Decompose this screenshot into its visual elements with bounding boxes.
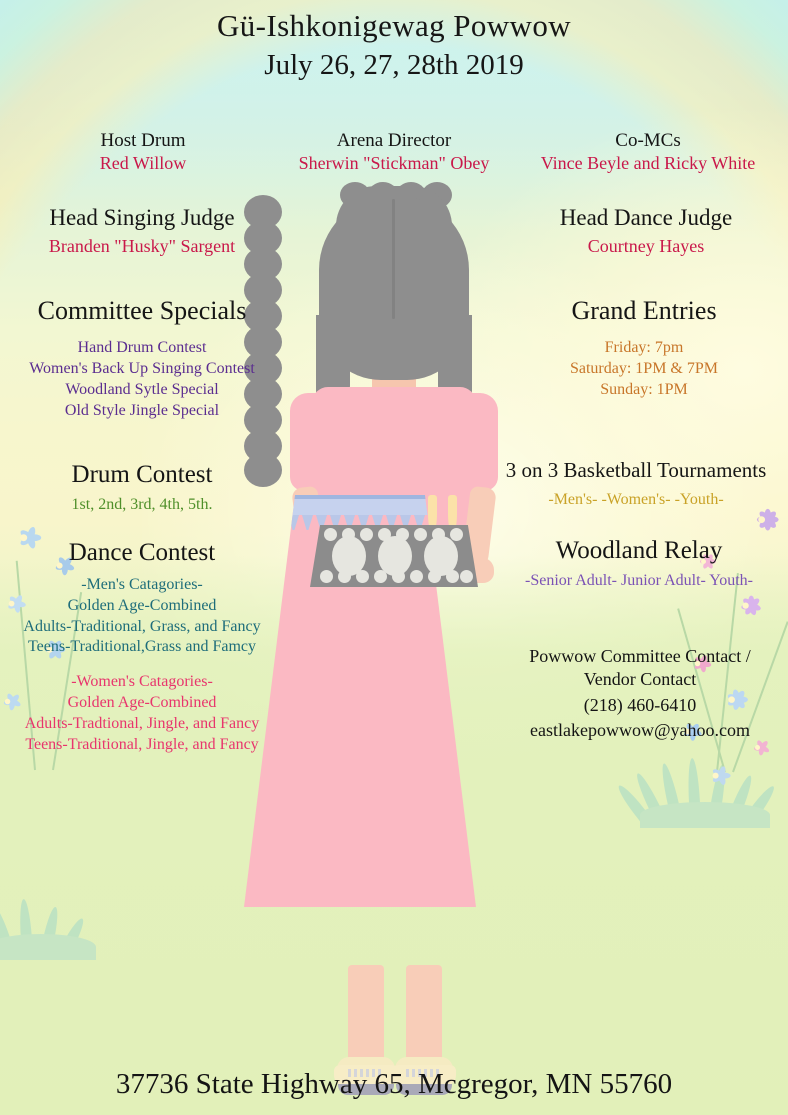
drum-contest-block: Drum Contest 1st, 2nd, 3rd, 4th, 5th. — [0, 460, 284, 516]
venue-address: 37736 State Highway 65, Mcgregor, MN 557… — [0, 1068, 788, 1101]
committee-special-item: Old Style Jingle Special — [0, 401, 284, 422]
drum-contest-places: 1st, 2nd, 3rd, 4th, 5th. — [0, 495, 284, 516]
concho-belt — [310, 525, 478, 587]
grand-entries-block: Grand Entries Friday: 7pm Saturday: 1PM … — [508, 296, 780, 401]
basketball-divisions: -Men's- -Women's- -Youth- — [484, 490, 788, 511]
womens-category: Golden Age-Combined — [0, 693, 284, 714]
grass-tuft-left — [0, 900, 96, 954]
mens-category: Teens-Traditional,Grass and Famcy — [0, 637, 284, 658]
page-title: Gü-Ishkonigewag Powwow — [0, 8, 788, 44]
womens-category: Teens-Traditional, Jingle, and Fancy — [0, 735, 284, 756]
contact-block: Powwow Committee Contact / Vendor Contac… — [492, 645, 788, 743]
womens-category: -Women's Catagories- — [0, 672, 284, 693]
grand-entry-item: Sunday: 1PM — [508, 380, 780, 401]
basketball-block: 3 on 3 Basketball Tournaments -Men's- -W… — [484, 458, 788, 511]
mens-category: -Men's Catagories- — [0, 575, 284, 596]
grand-entries-heading: Grand Entries — [508, 296, 780, 326]
committee-specials-block: Committee Specials Hand Drum Contest Wom… — [0, 296, 284, 421]
event-dates: July 26, 27, 28th 2019 — [0, 49, 788, 82]
dance-contest-block: Dance Contest -Men's Catagories- Golden … — [0, 538, 284, 755]
arena-director-heading: Arena Director — [260, 130, 528, 152]
woodland-relay-block: Woodland Relay -Senior Adult- Junior Adu… — [490, 536, 788, 592]
contact-line-2: Vendor Contact — [492, 668, 788, 691]
head-singing-judge-heading: Head Singing Judge — [8, 205, 276, 232]
grand-entry-item: Friday: 7pm — [508, 338, 780, 359]
contact-email[interactable]: eastlakepowwow@yahoo.com — [492, 719, 788, 742]
basketball-heading: 3 on 3 Basketball Tournaments — [484, 458, 788, 482]
co-mcs-names: Vince Beyle and Ricky White — [520, 152, 776, 175]
drum-contest-heading: Drum Contest — [0, 460, 284, 489]
woodland-relay-heading: Woodland Relay — [490, 536, 788, 565]
head-dance-judge-heading: Head Dance Judge — [512, 205, 780, 232]
dance-contest-heading: Dance Contest — [0, 538, 284, 567]
title-block: Gü-Ishkonigewag Powwow July 26, 27, 28th… — [0, 8, 788, 82]
arena-director-block: Arena Director Sherwin "Stickman" Obey — [260, 130, 528, 175]
host-drum-block: Host Drum Red Willow — [18, 130, 268, 175]
co-mcs-block: Co-MCs Vince Beyle and Ricky White — [520, 130, 776, 175]
committee-special-item: Hand Drum Contest — [0, 338, 284, 359]
powwow-poster: Gü-Ishkonigewag Powwow July 26, 27, 28th… — [0, 0, 788, 1115]
mens-category: Adults-Traditional, Grass, and Fancy — [0, 617, 284, 638]
host-drum-heading: Host Drum — [18, 130, 268, 152]
woodland-relay-divisions: -Senior Adult- Junior Adult- Youth- — [490, 571, 788, 592]
host-drum-name: Red Willow — [18, 152, 268, 175]
head-dance-judge-name: Courtney Hayes — [512, 235, 780, 258]
committee-special-item: Woodland Sytle Special — [0, 380, 284, 401]
mens-category: Golden Age-Combined — [0, 596, 284, 617]
committee-specials-heading: Committee Specials — [0, 296, 284, 326]
head-dance-judge-block: Head Dance Judge Courtney Hayes — [512, 205, 780, 258]
head-singing-judge-name: Branden "Husky" Sargent — [8, 235, 276, 258]
grass-tuft-right — [640, 760, 770, 822]
committee-special-item: Women's Back Up Singing Contest — [0, 359, 284, 380]
head-singing-judge-block: Head Singing Judge Branden "Husky" Sarge… — [8, 205, 276, 258]
arena-director-name: Sherwin "Stickman" Obey — [260, 152, 528, 175]
contact-phone[interactable]: (218) 460-6410 — [492, 694, 788, 717]
co-mcs-heading: Co-MCs — [520, 130, 776, 152]
contact-line-1: Powwow Committee Contact / — [492, 645, 788, 668]
womens-category: Adults-Tradtional, Jingle, and Fancy — [0, 714, 284, 735]
grand-entry-item: Saturday: 1PM & 7PM — [508, 359, 780, 380]
